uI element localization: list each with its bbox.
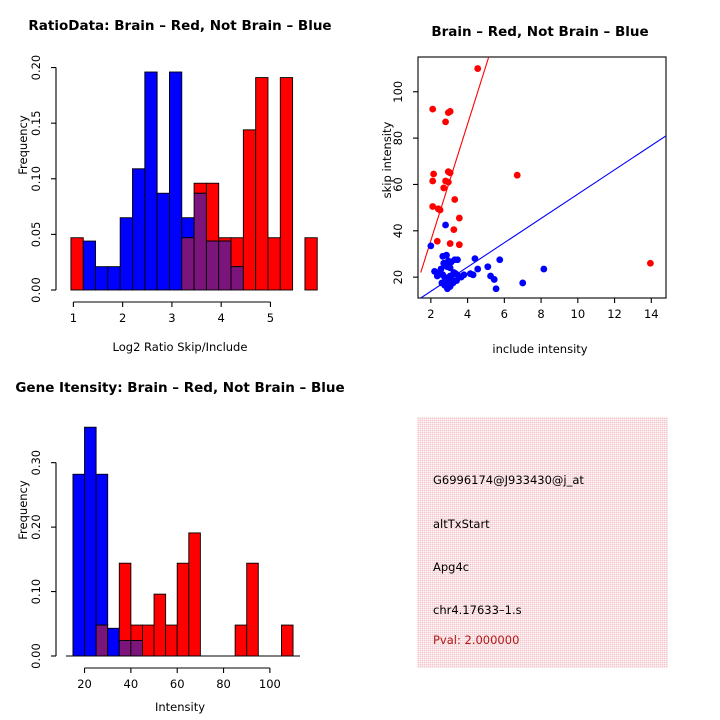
- info-event-type: altTxStart: [433, 517, 490, 531]
- scatter-point: [454, 256, 461, 263]
- scatter-point: [456, 215, 463, 222]
- histogram-bar: [247, 563, 259, 656]
- histogram-bar: [131, 625, 143, 640]
- scatter-point: [445, 179, 452, 186]
- scatter-point: [451, 196, 458, 203]
- histogram-bar: [83, 241, 95, 290]
- x-tick-label: 2: [427, 307, 434, 321]
- histogram-bar: [120, 218, 132, 290]
- regression-line: [421, 57, 489, 273]
- ratio-histogram-canvas: 0.000.050.100.150.2012345: [0, 0, 360, 360]
- histogram-bar: [206, 183, 218, 241]
- gene-histogram-canvas: 0.000.100.200.3020406080100: [0, 360, 360, 720]
- y-tick-label: 60: [391, 177, 405, 192]
- scatter-point: [484, 263, 491, 270]
- scatter-point: [470, 271, 477, 278]
- histogram-bar-overlap: [219, 241, 231, 290]
- histogram-bar: [182, 218, 194, 238]
- scatter-point: [430, 171, 437, 178]
- histogram-bar: [194, 183, 206, 193]
- scatter-point: [474, 266, 481, 273]
- x-tick-label: 4: [464, 307, 471, 321]
- scatter-point: [447, 240, 454, 247]
- x-tick-label: 14: [644, 307, 659, 321]
- y-tick-label: 0.05: [29, 222, 43, 248]
- x-tick-label: 10: [571, 307, 586, 321]
- histogram-bar: [268, 238, 280, 290]
- y-tick-label: 0.30: [29, 450, 43, 476]
- scatter-point: [443, 252, 450, 259]
- panel-ratio-histogram: RatioData: Brain – Red, Not Brain – Blue…: [0, 0, 360, 360]
- scatter-point: [445, 109, 452, 116]
- histogram-bar: [108, 628, 120, 656]
- x-tick-label: 8: [537, 307, 544, 321]
- histogram-bar: [119, 563, 131, 640]
- histogram-bar-overlap: [206, 241, 218, 290]
- scatter-point: [647, 260, 654, 267]
- scatter-point: [437, 207, 444, 214]
- histogram-bar-overlap: [119, 641, 131, 656]
- scatter-point: [540, 266, 547, 273]
- histogram-bar: [243, 130, 255, 290]
- y-tick-label: 0.10: [29, 166, 43, 192]
- histogram-bar: [256, 78, 268, 290]
- scatter-point: [519, 280, 526, 287]
- r-graphics-device: RatioData: Brain – Red, Not Brain – Blue…: [0, 0, 720, 720]
- scatter-point: [440, 185, 447, 192]
- x-tick-label: 40: [124, 677, 139, 691]
- scatter-point: [445, 168, 452, 175]
- scatter-point: [442, 222, 449, 229]
- y-tick-label: 0.00: [29, 643, 43, 669]
- y-tick-label: 80: [391, 131, 405, 146]
- scatter-point: [496, 256, 503, 263]
- histogram-bar-overlap: [131, 641, 143, 656]
- histogram-bar: [73, 474, 85, 656]
- scatter-point: [514, 172, 521, 179]
- annotation-info-box: G6996174@J933430@j_at altTxStart Apg4c c…: [417, 417, 668, 668]
- histogram-bar: [177, 563, 189, 656]
- scatter-point: [491, 276, 498, 283]
- x-tick-label: 100: [259, 677, 281, 691]
- y-tick-label: 0.20: [29, 55, 43, 81]
- scatter-point: [453, 277, 460, 284]
- x-tick-label: 80: [216, 677, 231, 691]
- histogram-bar-overlap: [231, 267, 243, 290]
- info-pval: Pval: 2.000000: [433, 633, 519, 647]
- histogram-bar: [189, 533, 201, 656]
- x-tick-label: 3: [168, 311, 175, 325]
- histogram-bar: [169, 72, 181, 290]
- scatter-point: [442, 118, 449, 125]
- scatter-point: [429, 178, 436, 185]
- scatter-point: [472, 255, 479, 262]
- y-tick-label: 0.10: [29, 579, 43, 605]
- y-tick-label: 0.20: [29, 514, 43, 540]
- y-tick-label: 0.15: [29, 110, 43, 136]
- histogram-bar: [145, 72, 157, 290]
- y-tick-label: 0.00: [29, 277, 43, 303]
- x-tick-label: 5: [267, 311, 274, 325]
- histogram-bar: [96, 474, 108, 625]
- histogram-bar: [305, 238, 317, 290]
- histogram-bar: [154, 594, 166, 656]
- histogram-bar: [157, 193, 169, 290]
- x-tick-label: 4: [218, 311, 225, 325]
- x-tick-label: 6: [501, 307, 508, 321]
- y-tick-label: 40: [391, 223, 405, 238]
- panel-gene-histogram: Gene Itensity: Brain – Red, Not Brain – …: [0, 360, 360, 720]
- histogram-bar: [71, 238, 83, 290]
- scatter-point: [456, 241, 463, 248]
- histogram-bar: [219, 238, 231, 241]
- y-tick-label: 100: [391, 81, 405, 103]
- scatter-point: [461, 271, 468, 278]
- scatter-point: [434, 238, 441, 245]
- scatter-point: [493, 285, 500, 292]
- info-locus: chr4.17633–1.s: [433, 603, 522, 617]
- histogram-bar: [231, 238, 243, 267]
- scatter-canvas: 204060801002468101214: [360, 0, 720, 360]
- x-tick-label: 2: [119, 311, 126, 325]
- histogram-bar: [96, 267, 108, 290]
- histogram-bar-overlap: [194, 193, 206, 290]
- histogram-bar-overlap: [182, 238, 194, 290]
- x-tick-label: 12: [607, 307, 622, 321]
- scatter-point: [474, 65, 481, 72]
- histogram-bar: [142, 625, 154, 656]
- scatter-point: [427, 242, 434, 249]
- histogram-bar: [166, 625, 178, 656]
- scatter-point: [429, 106, 436, 113]
- scatter-point: [438, 266, 445, 273]
- histogram-bar: [133, 169, 145, 290]
- x-tick-label: 1: [70, 311, 77, 325]
- histogram-bar: [108, 267, 120, 290]
- x-tick-label: 20: [77, 677, 92, 691]
- histogram-bar: [235, 625, 247, 656]
- scatter-point: [450, 226, 457, 233]
- info-gene-symbol: Apg4c: [433, 560, 469, 574]
- histogram-bar-overlap: [96, 625, 108, 656]
- y-tick-label: 20: [391, 270, 405, 285]
- info-probe-id: G6996174@J933430@j_at: [433, 473, 584, 487]
- x-tick-label: 60: [170, 677, 185, 691]
- histogram-bar: [280, 78, 292, 290]
- panel-intensity-scatter: Brain – Red, Not Brain – Blue skip inten…: [360, 0, 720, 360]
- histogram-bar: [85, 427, 97, 656]
- histogram-bar: [281, 625, 293, 656]
